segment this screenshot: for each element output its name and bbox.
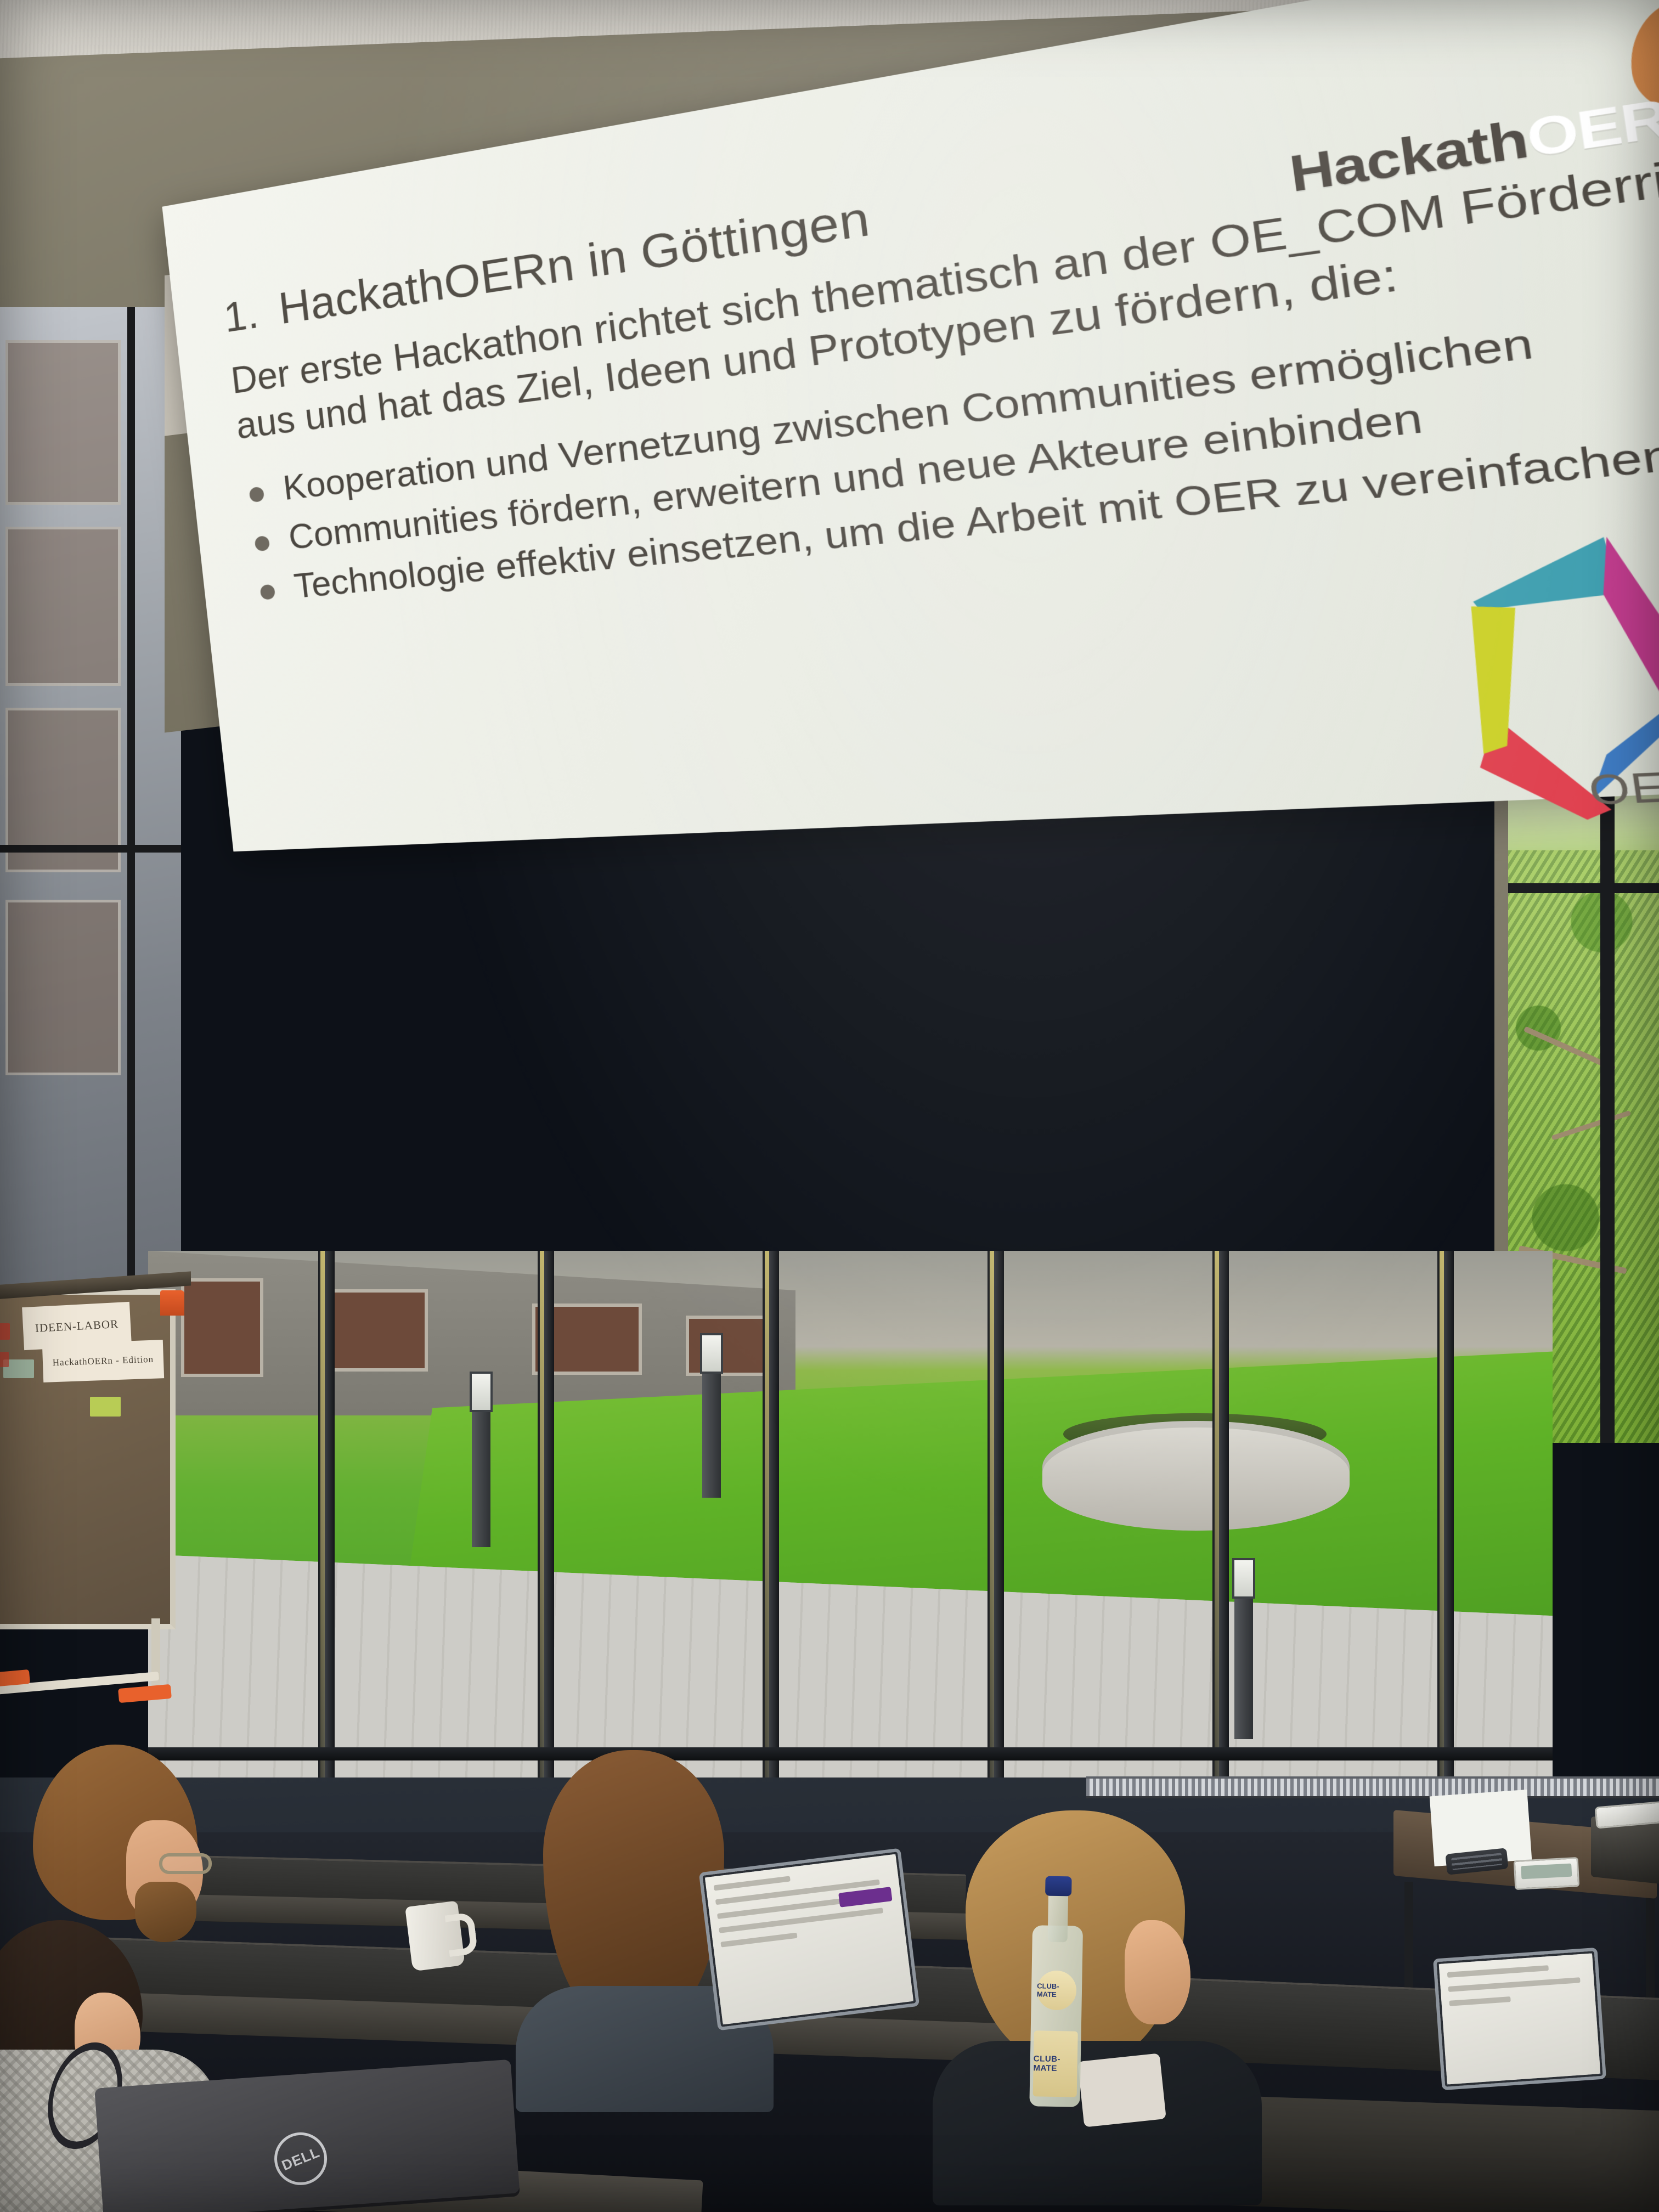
- laptop-right: [1433, 1948, 1606, 2090]
- bottle-neck: [1048, 1889, 1069, 1943]
- oer-strategie-logo: OER-Strategie: [1391, 455, 1659, 832]
- pinboard-note-subtitle: HackathOERn - Edition: [42, 1340, 164, 1383]
- dell-logo: DELL: [267, 2124, 335, 2193]
- shard-teal: [1466, 537, 1622, 611]
- path-bollard-lamp: [1234, 1558, 1253, 1739]
- screen-accent-block: [838, 1887, 892, 1908]
- pinboard-corner-cap: [160, 1290, 184, 1316]
- audience-person-right: [944, 1810, 1229, 2162]
- shard-yellow: [1463, 603, 1536, 754]
- control-panel-device: [1514, 1857, 1580, 1890]
- glazing-pane: [5, 340, 121, 505]
- club-mate-bottle: CLUB-MATE CLUB-MATE: [1029, 1876, 1084, 2107]
- laptop-screen: [705, 1854, 913, 2025]
- logo-word-highlight: OER: [1523, 87, 1659, 168]
- bottle-cap: [1045, 1876, 1072, 1897]
- bollard-lamp-head: [1232, 1558, 1255, 1599]
- pinboard: IDEEN-LABOR HackathOERn - Edition: [0, 1289, 176, 1629]
- screen-text-line: [1448, 1977, 1581, 1992]
- upper-left-glazing: [0, 307, 181, 1295]
- window-mullion: [0, 845, 181, 853]
- shirt-collar: [1077, 2053, 1166, 2127]
- laptop-lid: [1433, 1948, 1606, 2090]
- glazing-pane: [5, 900, 121, 1075]
- screen-text-line: [720, 1933, 797, 1948]
- window-transom: [148, 1747, 1553, 1760]
- person-hair: [543, 1750, 724, 2024]
- stand-foot: [118, 1684, 172, 1703]
- pinboard-stand: [0, 1624, 176, 1739]
- bottle-body-label: CLUB-MATE: [1033, 2030, 1078, 2097]
- bottle-neck-brand: CLUB-MATE: [1037, 1982, 1077, 1999]
- device-display: [1521, 1864, 1572, 1880]
- logo-word-prefix: Hackath: [1286, 109, 1531, 202]
- pinboard-sticky-note: [0, 1323, 10, 1340]
- projection-screen: HackathOERn 1. HackathOERn in Göttingen …: [165, 82, 1580, 1443]
- screen-text-line: [714, 1876, 791, 1891]
- slide-title-number: 1.: [222, 289, 261, 342]
- photo-scene: HackathOERn 1. HackathOERn in Göttingen …: [0, 0, 1659, 2212]
- eyeglasses: [159, 1853, 212, 1874]
- pinboard-sticky-note: [0, 1352, 9, 1367]
- laptop-screen: [1439, 1954, 1601, 2085]
- radiator-grille: [1086, 1776, 1659, 1798]
- screen-text-line: [1447, 1965, 1549, 1978]
- laptop-lid: [699, 1848, 920, 2031]
- laptop-center: [699, 1848, 920, 2031]
- table-leg: [1646, 1887, 1655, 2008]
- coffee-mug: [405, 1901, 465, 1972]
- projected-slide: HackathOERn 1. HackathOERn in Göttingen …: [162, 0, 1659, 851]
- window-mullion: [127, 307, 135, 1295]
- glazing-pane: [5, 527, 121, 686]
- screen-text-line: [1449, 1996, 1510, 2006]
- bottle-body-brand: CLUB-MATE: [1033, 2054, 1077, 2073]
- pinboard-sticky-note: [90, 1397, 121, 1417]
